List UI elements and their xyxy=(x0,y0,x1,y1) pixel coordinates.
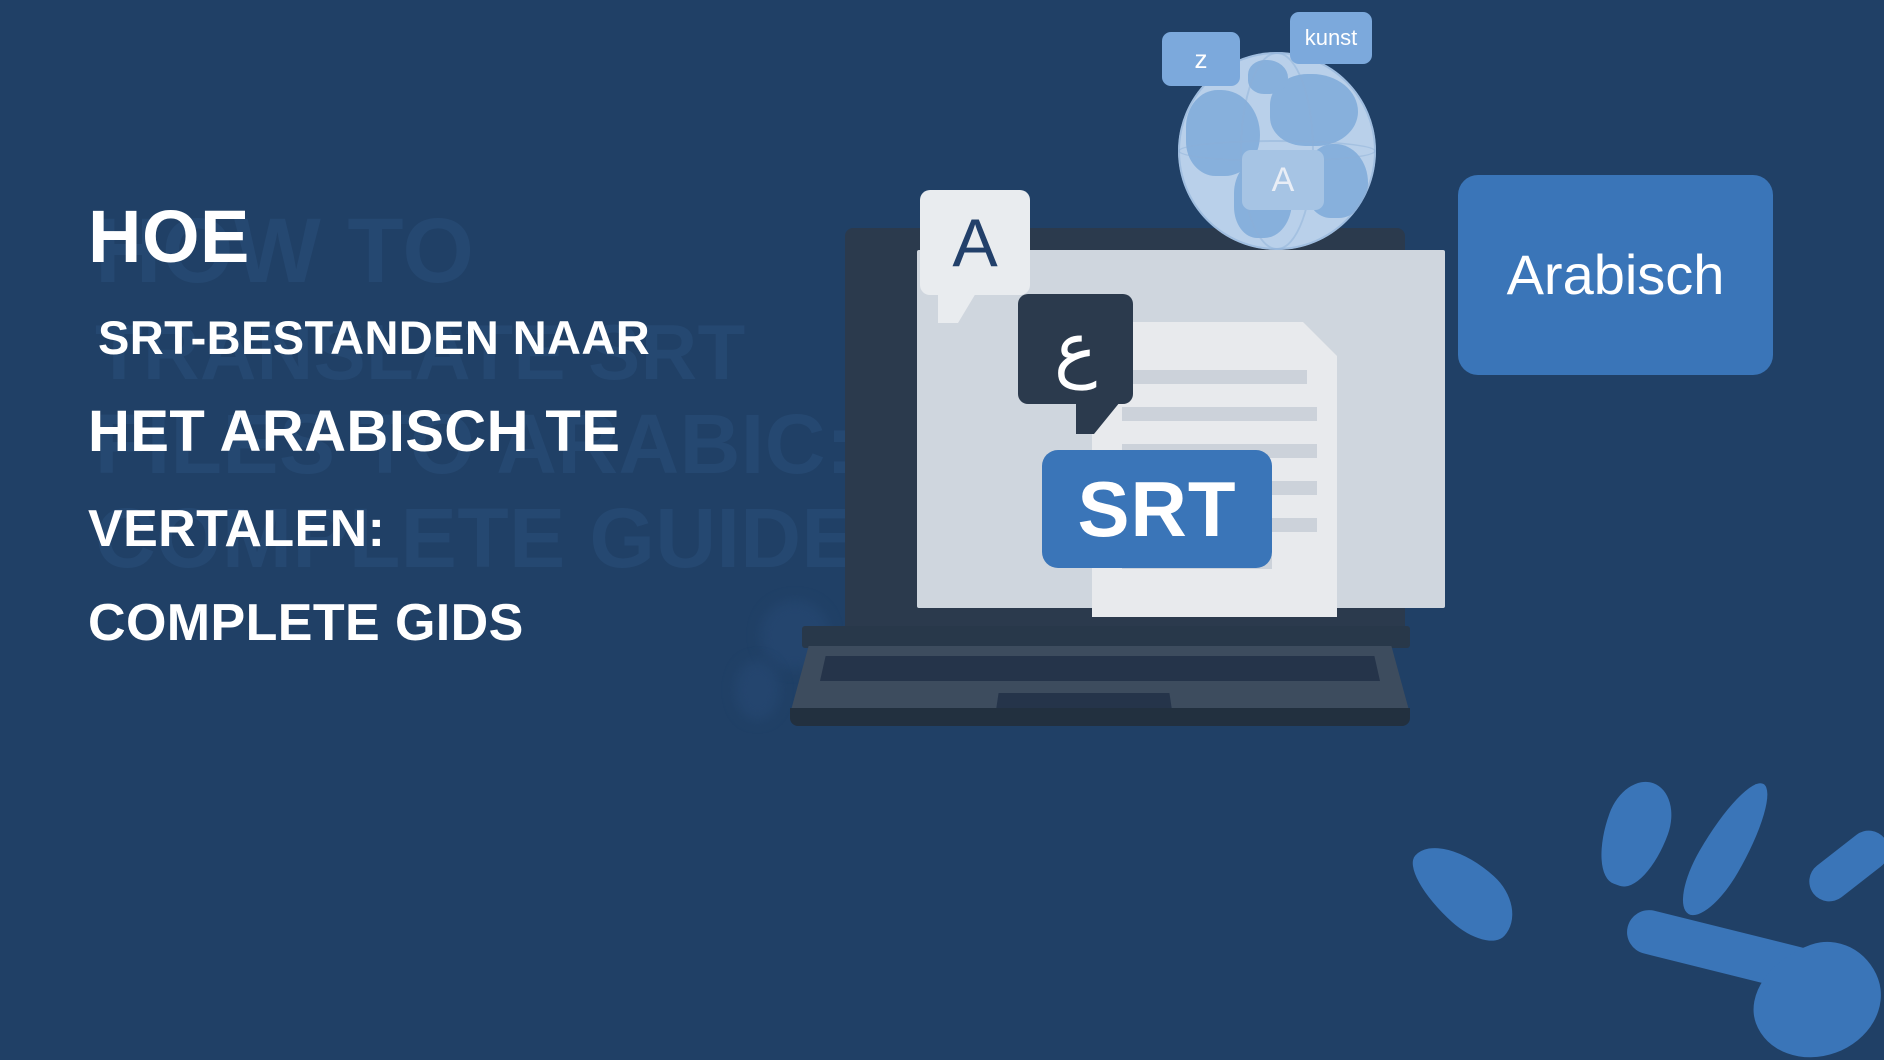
headline-line-3: HET ARABISCH TE xyxy=(88,403,848,461)
document-fold-corner xyxy=(1303,322,1337,356)
globe-bubble-a-label: A xyxy=(1272,161,1295,200)
srt-badge-label: SRT xyxy=(1078,470,1237,548)
speech-bubble-latin-a: A xyxy=(920,190,1030,295)
arabisch-language-label: Arabisch xyxy=(1507,247,1725,303)
speech-bubble-arabic-ain: ع xyxy=(1018,294,1133,404)
headline-line-2: SRT-BESTANDEN NAAR xyxy=(98,314,848,361)
headline-line-4: VERTALEN: xyxy=(88,503,848,555)
speech-bubble-arabic-ain-label: ع xyxy=(1054,313,1097,385)
poster-canvas: HOW TO TRANSLATE SRT FILES TO ARABIC: CO… xyxy=(0,0,1884,1060)
splash-drop xyxy=(1399,828,1530,954)
speech-bubble-tail-icon xyxy=(938,293,976,323)
globe-group: z kunst A xyxy=(1160,10,1410,260)
globe-bubble-z-label: z xyxy=(1195,44,1208,75)
splash-decoration xyxy=(1374,750,1884,1060)
splash-drop xyxy=(1669,773,1782,925)
laptop-hinge xyxy=(802,626,1410,648)
globe-bubble-kunst: kunst xyxy=(1290,12,1372,64)
speech-bubble-tail-icon xyxy=(1076,402,1120,434)
globe-bubble-kunst-label: kunst xyxy=(1305,25,1358,51)
headline-line-1: HOE xyxy=(88,200,848,274)
laptop-screen: SRT xyxy=(917,250,1445,608)
splash-drop xyxy=(1801,823,1884,910)
globe-bubble-z: z xyxy=(1162,32,1240,86)
splash-drop xyxy=(1587,773,1682,896)
laptop-keyboard xyxy=(820,656,1380,681)
laptop-base-front xyxy=(790,708,1410,726)
page-title: HOE SRT-BESTANDEN NAAR HET ARABISCH TE V… xyxy=(88,200,848,649)
document-text-line xyxy=(1122,407,1317,421)
headline-line-5: COMPLETE GIDS xyxy=(88,597,848,649)
document-text-line xyxy=(1122,370,1307,384)
speech-bubble-latin-a-label: A xyxy=(952,209,997,277)
background-blob xyxy=(735,660,780,720)
arabisch-language-card: Arabisch xyxy=(1458,175,1773,375)
srt-badge: SRT xyxy=(1042,450,1272,568)
globe-bubble-a: A xyxy=(1242,150,1324,210)
